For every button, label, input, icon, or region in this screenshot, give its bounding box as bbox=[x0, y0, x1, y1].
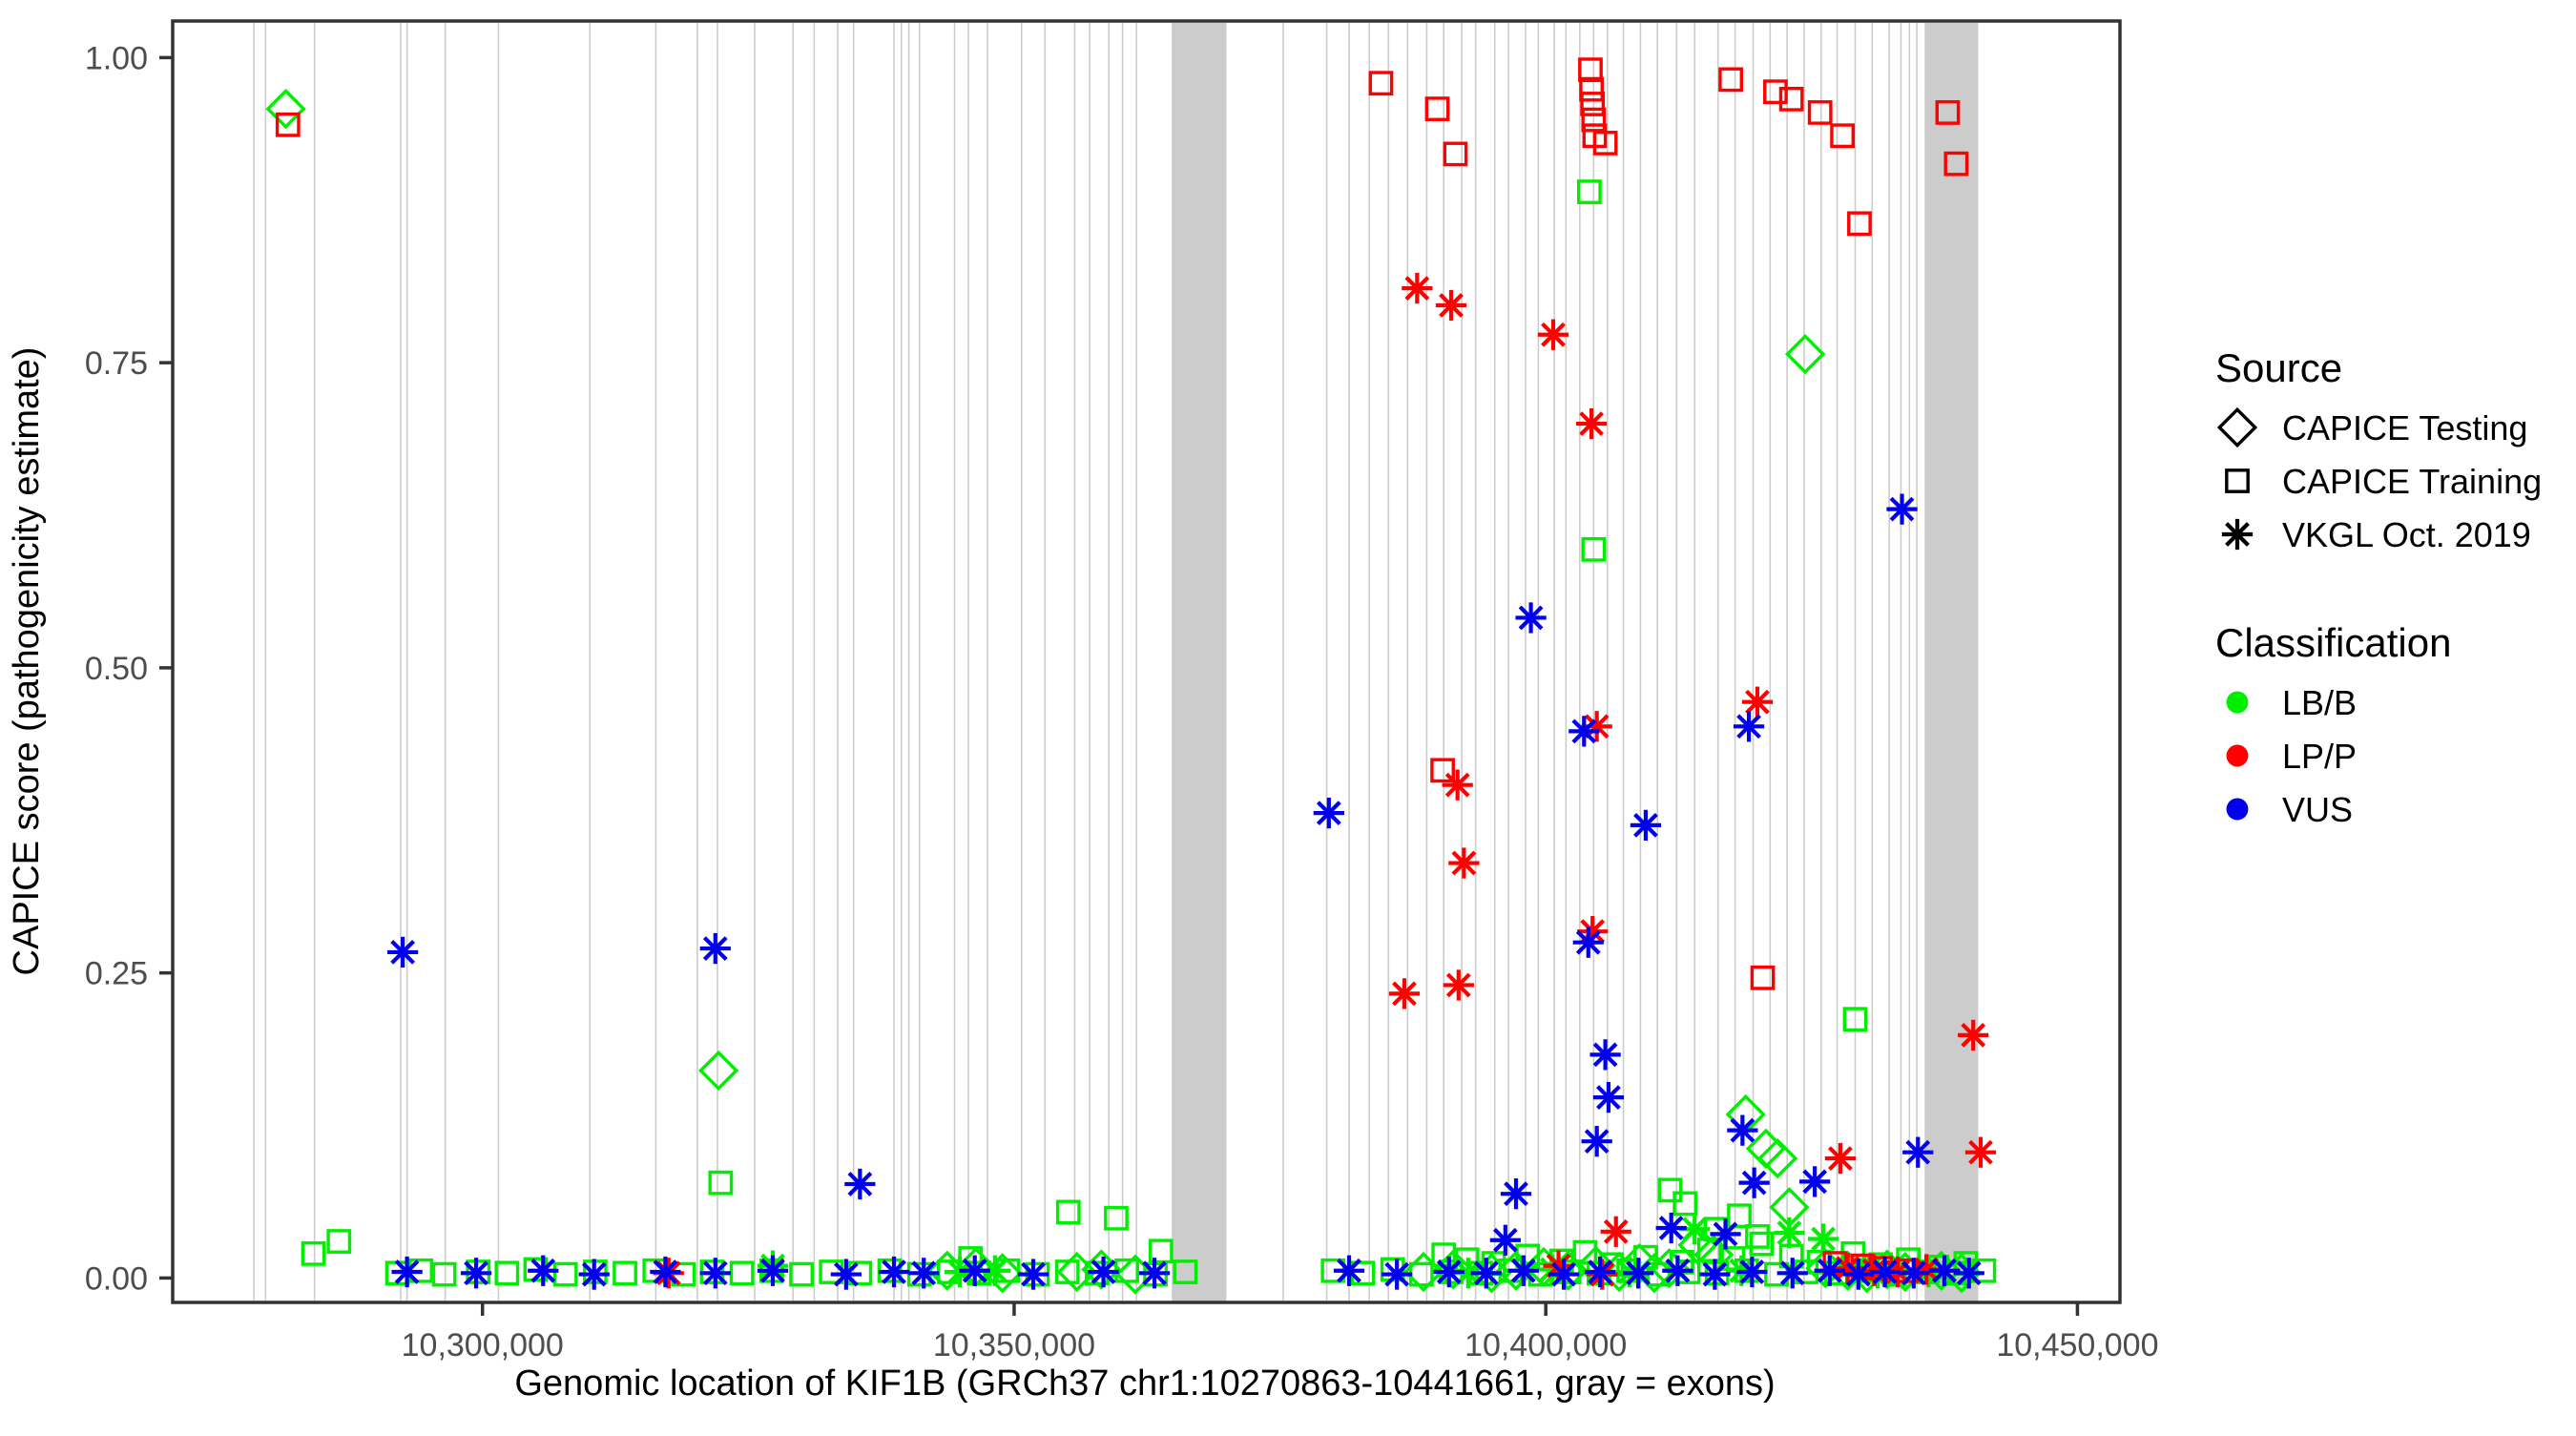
figure-background bbox=[0, 0, 2576, 1431]
marker-asterisk bbox=[1902, 1137, 1933, 1168]
marker-asterisk bbox=[1742, 687, 1773, 718]
legend-title-classification: Classification bbox=[2215, 620, 2451, 665]
marker-asterisk bbox=[1490, 1225, 1521, 1256]
marker-asterisk bbox=[1543, 1251, 1573, 1281]
marker-asterisk bbox=[1589, 1039, 1620, 1070]
marker-asterisk bbox=[1899, 1258, 1929, 1288]
marker-asterisk bbox=[1314, 798, 1344, 828]
marker-asterisk bbox=[1843, 1259, 1874, 1289]
marker-asterisk bbox=[391, 1257, 422, 1287]
marker-asterisk bbox=[700, 1258, 731, 1288]
exon-band bbox=[1173, 23, 1226, 1301]
marker-asterisk bbox=[2222, 519, 2253, 550]
legend-item-label: LB/B bbox=[2282, 683, 2357, 722]
y-tick-label: 0.25 bbox=[85, 956, 148, 992]
marker-asterisk bbox=[1736, 1257, 1767, 1287]
legend-item-label: LP/P bbox=[2282, 737, 2357, 776]
marker-asterisk bbox=[1088, 1257, 1118, 1287]
marker-asterisk bbox=[1870, 1257, 1901, 1287]
marker-asterisk bbox=[1389, 978, 1420, 1009]
marker-asterisk bbox=[1799, 1166, 1830, 1197]
marker-asterisk bbox=[1436, 290, 1466, 321]
marker-asterisk bbox=[1777, 1258, 1808, 1288]
marker-asterisk bbox=[960, 1256, 990, 1286]
y-tick-label: 0.75 bbox=[85, 345, 148, 382]
marker-asterisk bbox=[1508, 1256, 1539, 1286]
marker-asterisk bbox=[1623, 1258, 1653, 1288]
y-tick-label: 0.50 bbox=[85, 651, 148, 687]
legend-item-label: VKGL Oct. 2019 bbox=[2282, 515, 2531, 554]
marker-circle bbox=[2227, 692, 2249, 714]
marker-asterisk bbox=[1929, 1256, 1960, 1286]
marker-asterisk bbox=[528, 1256, 558, 1286]
plot-canvas: 0.000.250.500.751.00 10,300,00010,350,00… bbox=[0, 0, 2576, 1431]
marker-asterisk bbox=[461, 1258, 491, 1288]
y-axis-title: CAPICE score (pathogenicity estimate) bbox=[7, 347, 47, 976]
marker-asterisk bbox=[1601, 1217, 1631, 1247]
marker-asterisk bbox=[1774, 1217, 1804, 1248]
capice-scatter-figure: 0.000.250.500.751.00 10,300,00010,350,00… bbox=[0, 0, 2576, 1431]
marker-asterisk bbox=[1501, 1178, 1531, 1209]
marker-asterisk bbox=[1443, 770, 1473, 801]
marker-asterisk bbox=[1471, 1258, 1502, 1288]
marker-asterisk bbox=[844, 1169, 875, 1199]
marker-asterisk bbox=[758, 1256, 788, 1286]
marker-asterisk bbox=[1886, 493, 1917, 524]
marker-asterisk bbox=[1381, 1259, 1412, 1289]
marker-asterisk bbox=[1825, 1143, 1856, 1174]
marker-asterisk bbox=[1334, 1256, 1364, 1286]
marker-asterisk bbox=[1739, 1168, 1770, 1198]
marker-asterisk bbox=[1954, 1258, 1984, 1288]
marker-asterisk bbox=[1808, 1223, 1839, 1254]
marker-asterisk bbox=[1699, 1259, 1730, 1289]
marker-asterisk bbox=[700, 933, 731, 964]
y-tick-label: 1.00 bbox=[85, 40, 148, 76]
marker-asterisk bbox=[1815, 1256, 1845, 1286]
marker-circle bbox=[2227, 799, 2249, 821]
marker-asterisk bbox=[1018, 1259, 1049, 1289]
marker-asterisk bbox=[1548, 1259, 1579, 1289]
x-tick-label: 10,300,000 bbox=[402, 1327, 564, 1363]
marker-asterisk bbox=[1448, 847, 1479, 878]
y-tick-label: 0.00 bbox=[85, 1260, 148, 1297]
legend-item-label: CAPICE Testing bbox=[2282, 408, 2527, 447]
marker-asterisk bbox=[650, 1257, 680, 1287]
marker-asterisk bbox=[908, 1258, 939, 1288]
marker-asterisk bbox=[1662, 1256, 1693, 1286]
x-axis-title: Genomic location of KIF1B (GRCh37 chr1:1… bbox=[514, 1363, 1775, 1404]
marker-asterisk bbox=[1434, 1257, 1465, 1287]
marker-asterisk bbox=[387, 937, 418, 968]
marker-asterisk bbox=[1710, 1218, 1740, 1249]
x-tick-label: 10,450,000 bbox=[1996, 1327, 2158, 1363]
marker-asterisk bbox=[579, 1259, 610, 1289]
legend-item-label: VUS bbox=[2282, 790, 2353, 829]
marker-asterisk bbox=[1593, 1082, 1624, 1113]
marker-asterisk bbox=[1734, 711, 1764, 741]
marker-circle bbox=[2227, 745, 2249, 767]
marker-asterisk bbox=[1631, 810, 1661, 841]
marker-asterisk bbox=[1965, 1137, 1996, 1168]
marker-asterisk bbox=[1568, 716, 1599, 746]
x-tick-label: 10,350,000 bbox=[933, 1327, 1095, 1363]
exon-band bbox=[1925, 23, 1978, 1301]
marker-asterisk bbox=[1573, 927, 1604, 958]
marker-asterisk bbox=[1515, 602, 1546, 633]
marker-asterisk bbox=[1402, 273, 1432, 303]
marker-asterisk bbox=[1538, 320, 1568, 350]
marker-asterisk bbox=[879, 1257, 909, 1287]
x-tick-label: 10,400,000 bbox=[1465, 1327, 1627, 1363]
marker-asterisk bbox=[831, 1259, 862, 1289]
marker-asterisk bbox=[1585, 1257, 1615, 1287]
marker-asterisk bbox=[1727, 1115, 1757, 1146]
marker-asterisk bbox=[1958, 1020, 1988, 1051]
marker-asterisk bbox=[1656, 1213, 1687, 1243]
marker-asterisk bbox=[1139, 1258, 1170, 1288]
marker-asterisk bbox=[1444, 969, 1474, 1000]
marker-asterisk bbox=[1582, 1126, 1612, 1156]
marker-asterisk bbox=[1576, 408, 1607, 439]
legend-title-source: Source bbox=[2215, 345, 2342, 390]
legend-item-label: CAPICE Training bbox=[2282, 462, 2542, 501]
